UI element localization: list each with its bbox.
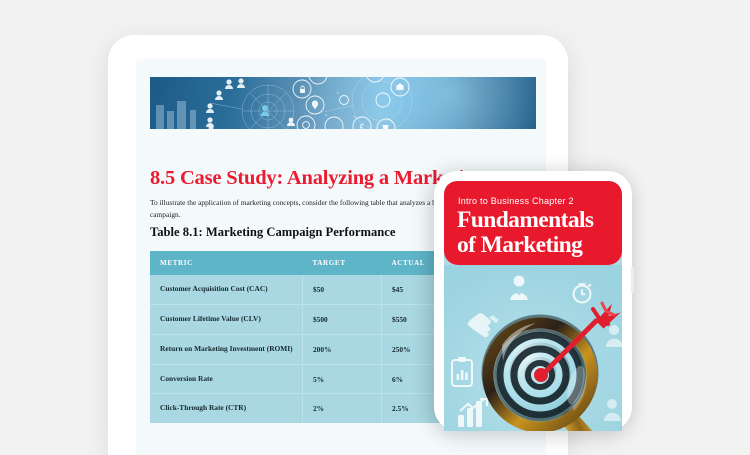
column-header-target: TARGET — [302, 251, 381, 275]
cover-title-line-1: Fundamentals — [457, 208, 614, 233]
cover-title: Fundamentals of Marketing — [457, 208, 614, 258]
cell-target: 2% — [302, 394, 381, 423]
cell-target: 200% — [302, 334, 381, 364]
column-header-metric: METRIC — [150, 251, 302, 275]
cell-metric: Customer Lifetime Value (CLV) — [150, 305, 302, 335]
composition-stage: € — [0, 0, 750, 422]
cell-target: 5% — [302, 364, 381, 394]
phone-device: Intro to Business Chapter 2 Fundamentals… — [434, 171, 632, 431]
svg-text:€: € — [360, 123, 365, 130]
cell-metric: Click-Through Rate (CTR) — [150, 394, 302, 423]
cover-banner: Intro to Business Chapter 2 Fundamentals… — [444, 181, 622, 265]
cover-kicker: Intro to Business Chapter 2 — [458, 196, 574, 206]
cell-metric: Return on Marketing Investment (ROMI) — [150, 334, 302, 364]
cover-title-line-2: of Marketing — [457, 233, 614, 258]
phone-side-button[interactable] — [631, 267, 634, 293]
cover-illustration — [444, 265, 622, 431]
document-banner-image: € — [150, 77, 536, 129]
table-caption: Table 8.1: Marketing Campaign Performanc… — [150, 225, 395, 240]
cell-target: $500 — [302, 305, 381, 335]
phone-screen: Intro to Business Chapter 2 Fundamentals… — [444, 181, 622, 431]
cell-metric: Conversion Rate — [150, 364, 302, 394]
cell-metric: Customer Acquisition Cost (CAC) — [150, 275, 302, 304]
cell-target: $50 — [302, 275, 381, 304]
